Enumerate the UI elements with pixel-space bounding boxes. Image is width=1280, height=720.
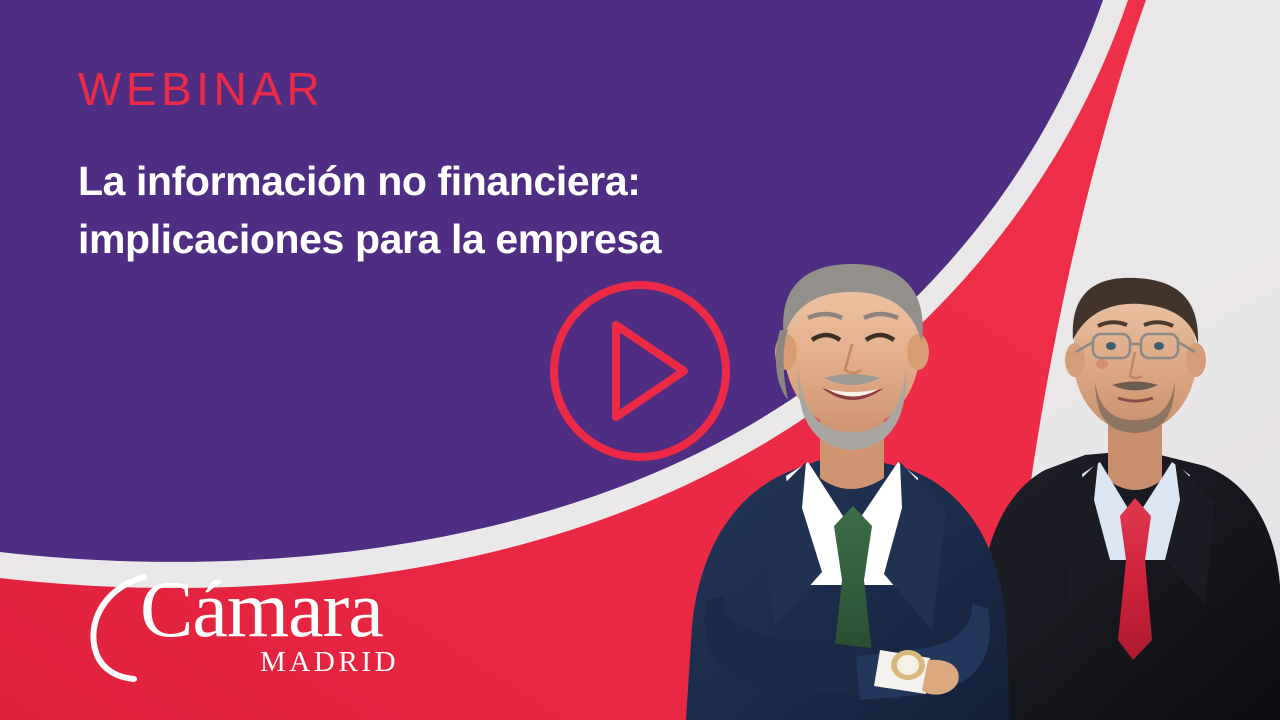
speaker-one	[686, 264, 1010, 720]
webinar-banner: WEBINAR La información no financiera: im…	[0, 0, 1280, 720]
speaker-two	[973, 278, 1280, 720]
play-button[interactable]	[546, 277, 734, 465]
speaker-one-ear-right	[907, 334, 929, 370]
speaker-two-eye-right	[1154, 342, 1164, 350]
eyebrow-label: WEBINAR	[78, 66, 324, 112]
speaker-two-cheek-mark	[1096, 359, 1108, 369]
page-title: La información no financiera: implicacio…	[78, 152, 878, 268]
play-button-ring	[554, 285, 726, 457]
play-triangle-icon	[616, 325, 684, 417]
camara-madrid-logo[interactable]: Cámara MADRID	[84, 572, 424, 684]
title-line-1: La información no financiera:	[78, 152, 878, 210]
logo-subtitle: MADRID	[260, 648, 399, 677]
speaker-two-eye-left	[1106, 342, 1116, 350]
title-line-2: implicaciones para la empresa	[78, 210, 878, 268]
speaker-one-watch-face	[897, 655, 919, 675]
logo-wordmark: Cámara	[140, 570, 383, 650]
